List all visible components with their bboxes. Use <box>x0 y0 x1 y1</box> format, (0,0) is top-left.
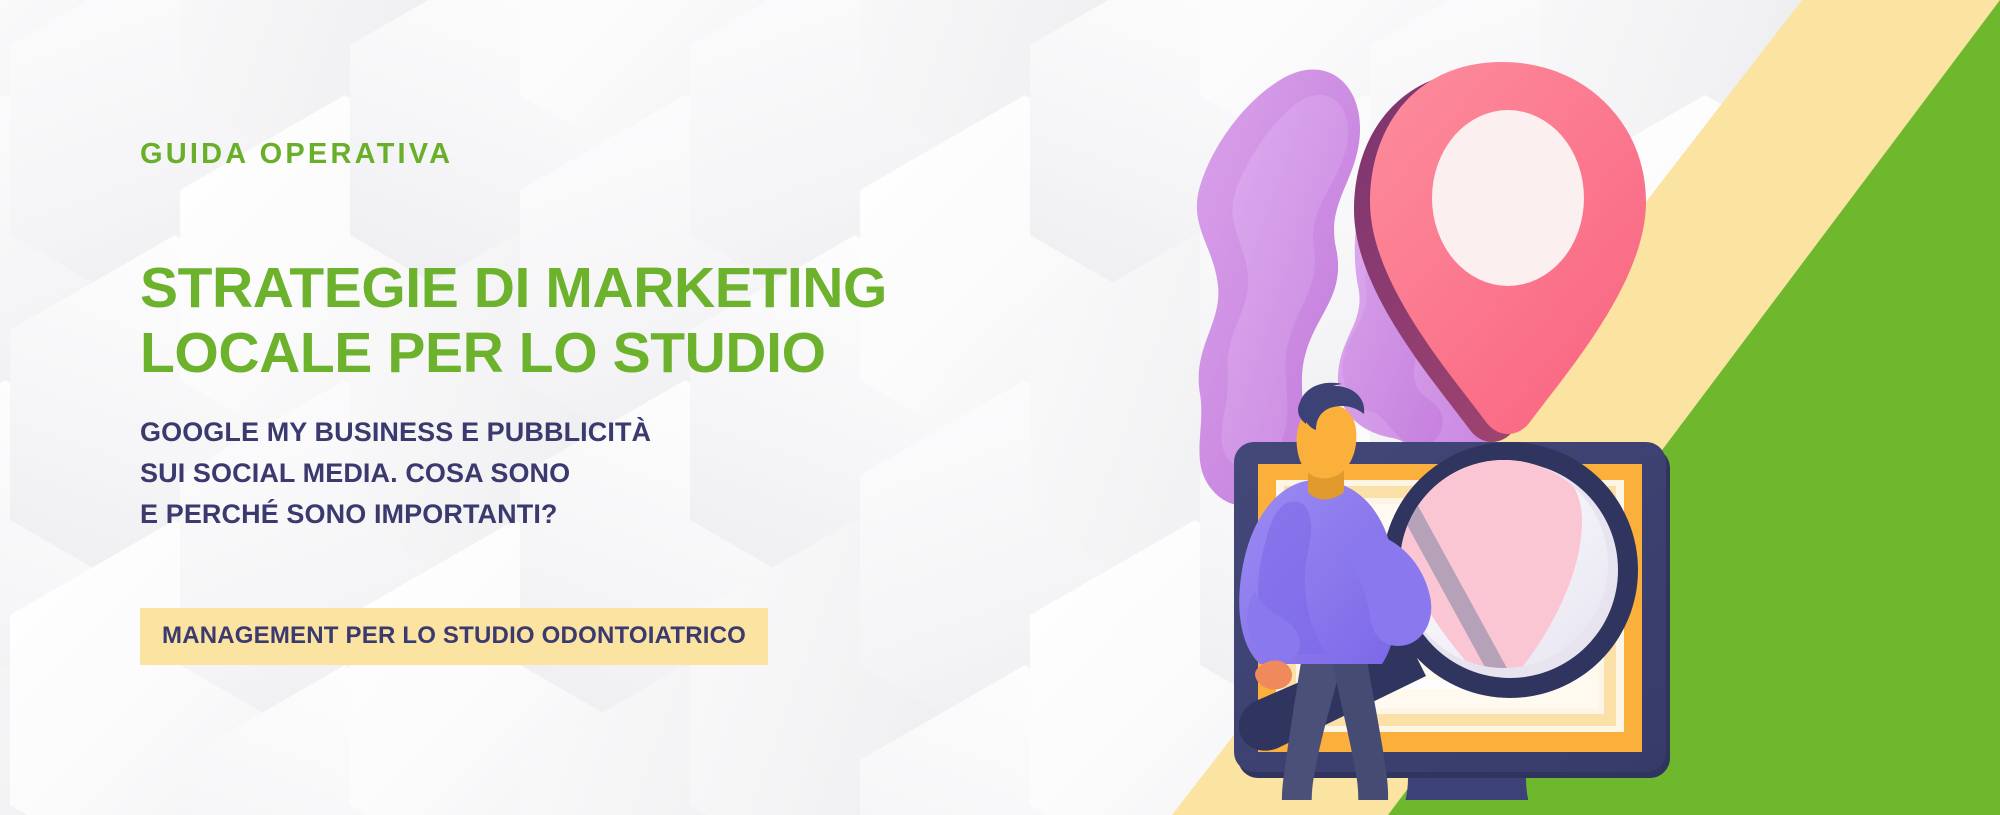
banner-root: GUIDA OPERATIVA STRATEGIE DI MARKETING L… <box>0 0 2000 815</box>
headline-line-1: STRATEGIE DI MARKETING <box>140 256 887 321</box>
text-column: GUIDA OPERATIVA STRATEGIE DI MARKETING L… <box>140 0 920 815</box>
local-marketing-illustration <box>1130 40 1930 800</box>
page-title: STRATEGIE DI MARKETING LOCALE PER LO STU… <box>140 256 887 386</box>
eyebrow-label: GUIDA OPERATIVA <box>140 138 453 171</box>
headline-line-2: LOCALE PER LO STUDIO <box>140 321 887 386</box>
subtitle-line-1: GOOGLE MY BUSINESS E PUBBLICITÀ <box>140 412 651 453</box>
subtitle-line-3: E PERCHÉ SONO IMPORTANTI? <box>140 494 651 535</box>
subtitle: GOOGLE MY BUSINESS E PUBBLICITÀ SUI SOCI… <box>140 412 651 535</box>
subtitle-line-2: SUI SOCIAL MEDIA. COSA SONO <box>140 453 651 494</box>
category-badge: MANAGEMENT PER LO STUDIO ODONTOIATRICO <box>140 608 768 665</box>
